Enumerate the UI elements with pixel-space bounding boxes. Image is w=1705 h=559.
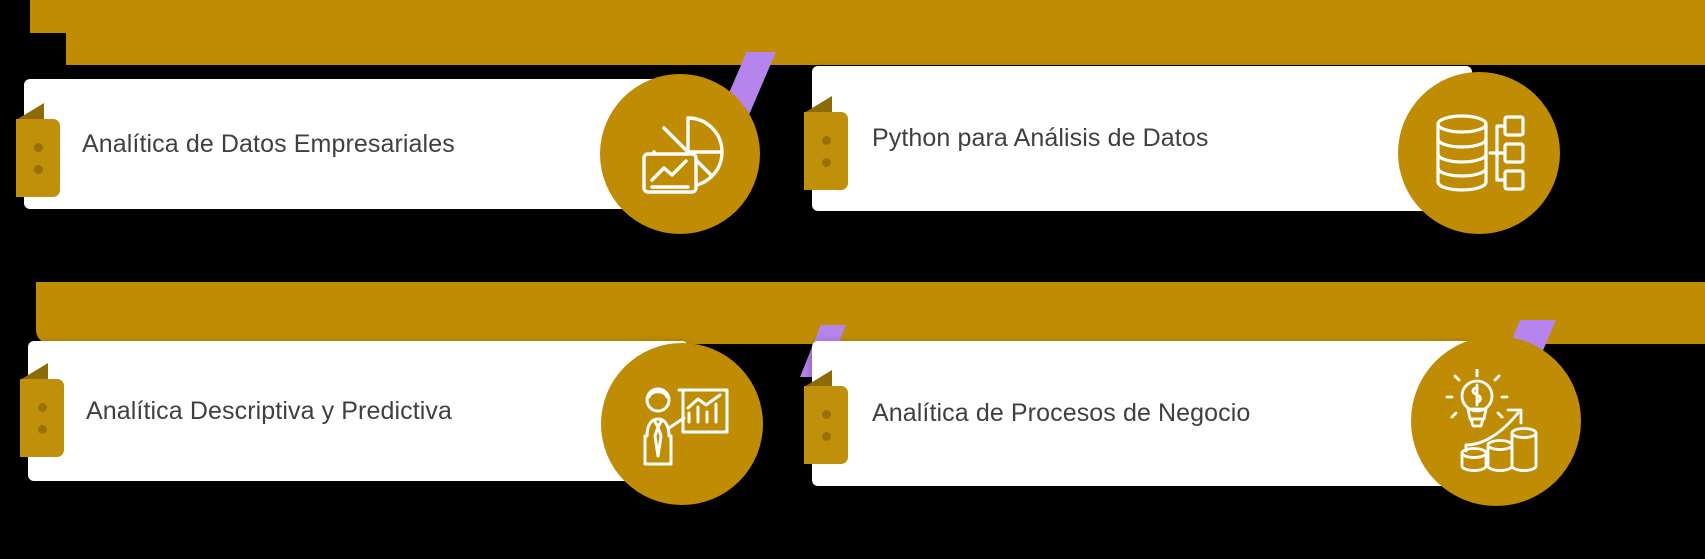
tab-dot-icon <box>38 403 47 412</box>
banner-row-1-lower <box>66 33 1705 65</box>
tab-dot-icon <box>822 432 831 441</box>
course-card[interactable]: Analítica de Datos Empresariales <box>24 79 684 209</box>
idea-growth-money-icon <box>1411 336 1581 506</box>
tab-dot-icon <box>822 158 831 167</box>
tab-dot-icon <box>34 143 43 152</box>
banner-row-2 <box>36 282 1705 344</box>
card-tab-handle[interactable] <box>20 379 64 457</box>
database-structure-icon <box>1398 72 1560 234</box>
course-card-title: Analítica de Procesos de Negocio <box>872 399 1250 428</box>
tab-dot-icon <box>822 410 831 419</box>
pie-chart-analytics-icon <box>600 74 760 234</box>
tab-dot-icon <box>34 165 43 174</box>
course-card[interactable]: Analítica de Procesos de Negocio <box>812 341 1472 486</box>
tab-dot-icon <box>822 136 831 145</box>
course-card[interactable]: Python para Análisis de Datos <box>812 66 1472 211</box>
banner-row-1-upper <box>30 0 1705 33</box>
card-tab-handle[interactable] <box>804 386 848 464</box>
course-card[interactable]: Analítica Descriptiva y Predictiva <box>28 341 688 481</box>
card-tab-handle[interactable] <box>804 112 848 190</box>
course-card-title: Analítica Descriptiva y Predictiva <box>86 397 452 426</box>
tab-dot-icon <box>38 425 47 434</box>
course-card-title: Analítica de Datos Empresariales <box>82 130 455 159</box>
presenter-chart-icon <box>601 343 763 505</box>
course-card-title: Python para Análisis de Datos <box>872 124 1208 153</box>
card-tab-handle[interactable] <box>16 119 60 197</box>
slide-canvas: Analítica de Datos Empresariales Python … <box>0 0 1705 559</box>
